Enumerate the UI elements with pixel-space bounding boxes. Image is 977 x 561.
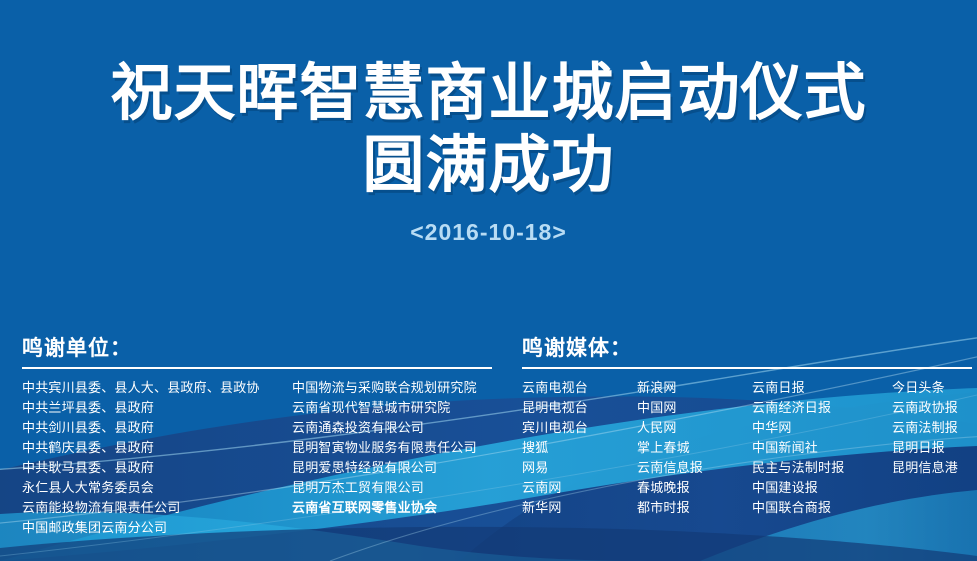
acknowledged-media-section: 鸣谢媒体： 云南电视台昆明电视台宾川电视台搜狐网易云南网新华网 新浪网中国网人民…	[522, 336, 972, 518]
credit-entry: 民主与法制时报	[752, 458, 892, 478]
credit-entry: 宾川电视台	[522, 418, 637, 438]
media-heading-rule	[522, 367, 972, 369]
credit-entry: 中共宾川县委、县人大、县政府、县政协	[22, 378, 292, 398]
credit-entry: 昆明万杰工贸有限公司	[292, 478, 492, 498]
media-column-2: 新浪网中国网人民网掌上春城云南信息报春城晚报都市时报	[637, 378, 752, 518]
units-heading-rule	[22, 367, 492, 369]
media-column-1: 云南电视台昆明电视台宾川电视台搜狐网易云南网新华网	[522, 378, 637, 518]
poster-title-line-2: 圆满成功	[0, 130, 977, 202]
credit-entry: 中国网	[637, 398, 752, 418]
credit-entry: 云南经济日报	[752, 398, 892, 418]
credit-entry: 昆明爱思特经贸有限公司	[292, 458, 492, 478]
credit-entry: 中国联合商报	[752, 498, 892, 518]
credit-entry: 云南电视台	[522, 378, 637, 398]
credit-entry: 掌上春城	[637, 438, 752, 458]
credit-entry: 中华网	[752, 418, 892, 438]
credit-entry: 云南省互联网零售业协会	[292, 498, 492, 518]
title-block: 祝天晖智慧商业城启动仪式 圆满成功 <2016-10-18>	[0, 58, 977, 246]
credit-entry: 今日头条	[892, 378, 972, 398]
credit-entry: 昆明智寅物业服务有限责任公司	[292, 438, 492, 458]
media-heading: 鸣谢媒体：	[522, 336, 972, 362]
credit-entry: 昆明日报	[892, 438, 972, 458]
credit-entry: 云南能投物流有限责任公司	[22, 498, 292, 518]
units-heading: 鸣谢单位：	[22, 336, 492, 362]
credit-entry: 中国建设报	[752, 478, 892, 498]
credit-entry: 云南通森投资有限公司	[292, 418, 492, 438]
credit-entry: 中国新闻社	[752, 438, 892, 458]
credit-entry: 中共耿马县委、县政府	[22, 458, 292, 478]
credit-entry: 永仁县人大常务委员会	[22, 478, 292, 498]
credit-entry: 中共剑川县委、县政府	[22, 418, 292, 438]
media-columns: 云南电视台昆明电视台宾川电视台搜狐网易云南网新华网 新浪网中国网人民网掌上春城云…	[522, 378, 972, 518]
poster-canvas: 祝天晖智慧商业城启动仪式 圆满成功 <2016-10-18> 鸣谢单位： 中共宾…	[0, 0, 977, 561]
units-column-2: 中国物流与采购联合规划研究院云南省现代智慧城市研究院云南通森投资有限公司昆明智寅…	[292, 378, 492, 538]
credit-entry: 网易	[522, 458, 637, 478]
media-column-4: 今日头条云南政协报云南法制报昆明日报昆明信息港	[892, 378, 972, 518]
credit-entry: 中国邮政集团云南分公司	[22, 518, 292, 538]
media-column-3: 云南日报云南经济日报中华网中国新闻社民主与法制时报中国建设报中国联合商报	[752, 378, 892, 518]
credit-entry: 云南网	[522, 478, 637, 498]
credit-entry: 云南信息报	[637, 458, 752, 478]
credit-entry: 新浪网	[637, 378, 752, 398]
credit-entry: 中国物流与采购联合规划研究院	[292, 378, 492, 398]
units-columns: 中共宾川县委、县人大、县政府、县政协中共兰坪县委、县政府中共剑川县委、县政府中共…	[22, 378, 492, 538]
credit-entry: 云南省现代智慧城市研究院	[292, 398, 492, 418]
credit-entry: 云南日报	[752, 378, 892, 398]
acknowledged-units-section: 鸣谢单位： 中共宾川县委、县人大、县政府、县政协中共兰坪县委、县政府中共剑川县委…	[22, 336, 492, 538]
credit-entry: 搜狐	[522, 438, 637, 458]
poster-title-line-1: 祝天晖智慧商业城启动仪式	[0, 58, 977, 130]
credit-entry: 中共鹤庆县委、县政府	[22, 438, 292, 458]
credit-entry: 中共兰坪县委、县政府	[22, 398, 292, 418]
event-date: <2016-10-18>	[0, 218, 977, 246]
credit-entry: 都市时报	[637, 498, 752, 518]
credit-entry: 昆明信息港	[892, 458, 972, 478]
credit-entry: 人民网	[637, 418, 752, 438]
credit-entry: 昆明电视台	[522, 398, 637, 418]
credit-entry: 新华网	[522, 498, 637, 518]
credit-entry: 云南法制报	[892, 418, 972, 438]
credit-entry: 云南政协报	[892, 398, 972, 418]
credit-entry: 春城晚报	[637, 478, 752, 498]
units-column-1: 中共宾川县委、县人大、县政府、县政协中共兰坪县委、县政府中共剑川县委、县政府中共…	[22, 378, 292, 538]
